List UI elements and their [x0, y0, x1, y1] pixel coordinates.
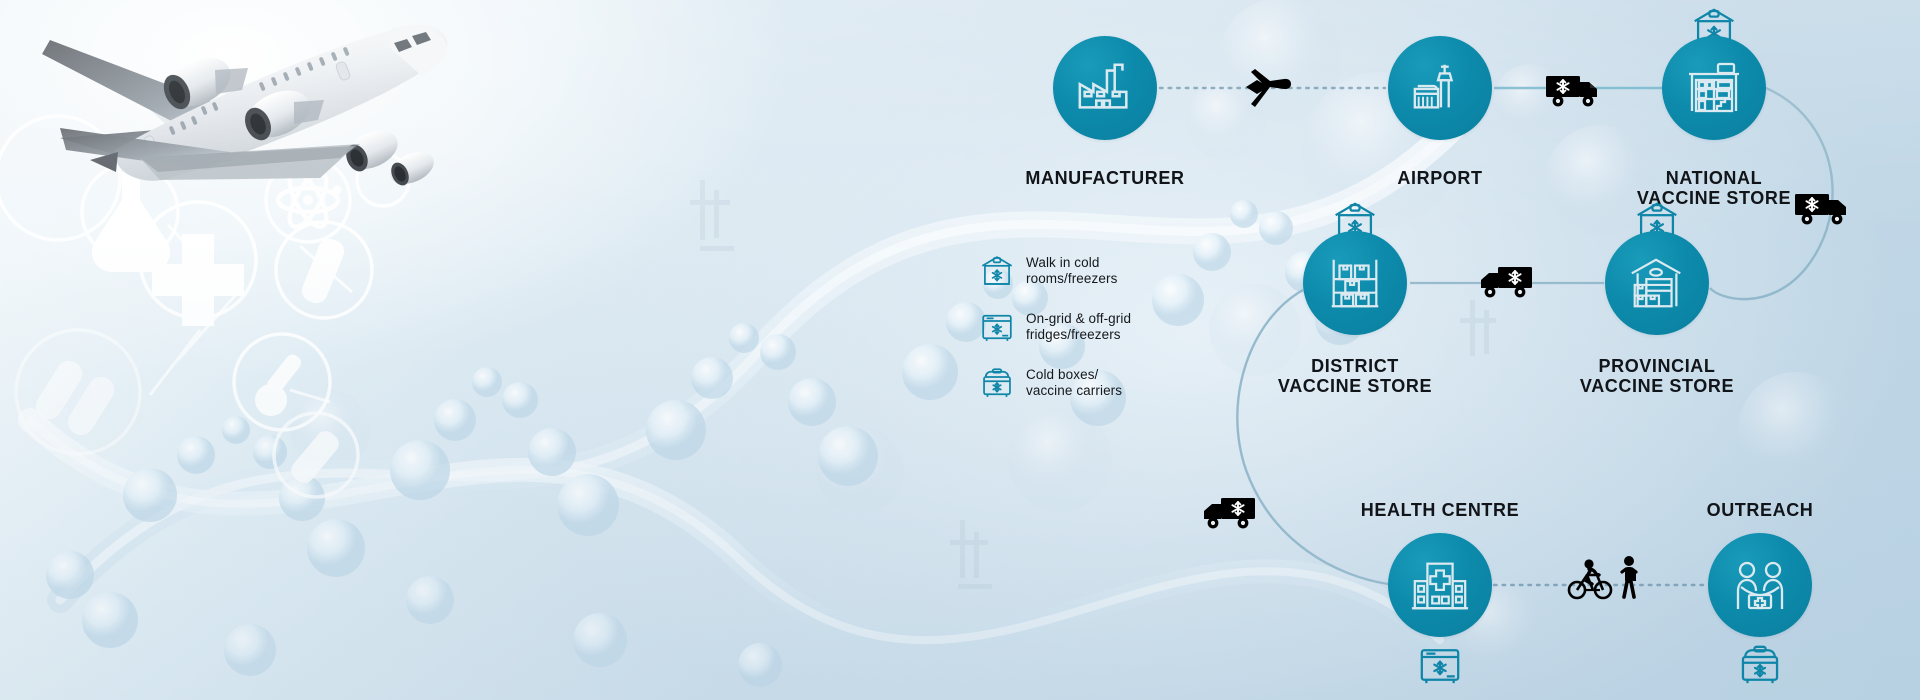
outreach-disc[interactable]: [1708, 533, 1812, 637]
flow-node-label: MANUFACTURER: [955, 168, 1255, 188]
hospital-icon: [1409, 554, 1471, 616]
cold-box-icon: [1735, 640, 1785, 690]
airport-disc[interactable]: [1388, 36, 1492, 140]
national-vaccine-store-disc[interactable]: [1662, 36, 1766, 140]
flow-node-label: AIRPORT: [1290, 168, 1590, 188]
warehouse-shelves-icon: [1682, 56, 1746, 120]
manufacturer-disc[interactable]: [1053, 36, 1157, 140]
outreach-workers-icon: [1728, 553, 1792, 617]
cold-chain-infographic: Walk in cold rooms/freezers On-grid & of…: [0, 0, 1920, 700]
supply-chain-flow: MANUFACTURER AIRPORT: [0, 0, 1920, 700]
pedestrian-icon: [1617, 555, 1641, 599]
flow-node-label: PROVINCIAL VACCINE STORE: [1507, 356, 1807, 396]
airplane-icon: [1243, 66, 1293, 110]
flow-node-label: OUTREACH: [1610, 500, 1910, 520]
airport-tower-icon: [1409, 57, 1471, 119]
warehouse-boxes-icon: [1626, 252, 1688, 314]
refrigerated-truck-icon: [1476, 261, 1534, 301]
flow-node-label: HEALTH CENTRE: [1290, 500, 1590, 520]
health-centre-disc[interactable]: [1388, 533, 1492, 637]
shelving-boxes-icon: [1324, 252, 1386, 314]
provincial-vaccine-store-disc[interactable]: [1605, 231, 1709, 335]
bicycle-icon: [1566, 558, 1614, 600]
district-vaccine-store-disc[interactable]: [1303, 231, 1407, 335]
factory-icon: [1074, 57, 1136, 119]
flow-node-label: DISTRICT VACCINE STORE: [1205, 356, 1505, 396]
refrigerated-truck-icon: [1793, 188, 1851, 228]
fridge-freezer-icon: [1415, 640, 1465, 690]
refrigerated-truck-icon: [1544, 70, 1602, 110]
refrigerated-truck-icon: [1199, 492, 1257, 532]
